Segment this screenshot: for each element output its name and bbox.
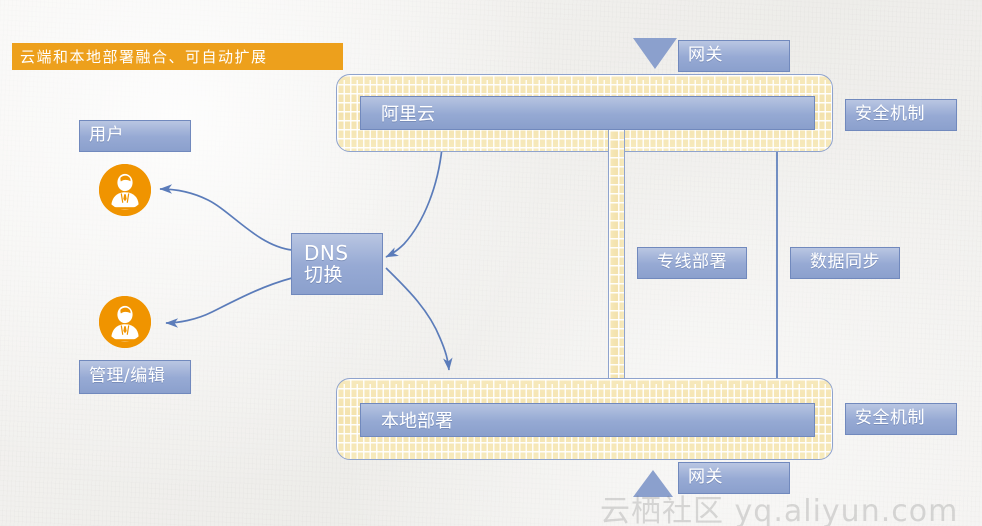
title-banner: 云端和本地部署融合、可自动扩展 [12, 43, 343, 70]
dedicated-line-label: 专线部署 [637, 247, 747, 279]
triangle-down-icon [633, 38, 677, 69]
user-label-text: 用户 [89, 126, 124, 146]
cloud-security-label: 安全机制 [845, 99, 957, 131]
admin-label: 管理/编辑 [79, 360, 191, 394]
onprem-zone-plate: 本地部署 [360, 403, 815, 437]
data-sync-text: 数据同步 [810, 253, 880, 273]
cloud-zone-label: 阿里云 [381, 100, 435, 126]
gateway-top-label: 网关 [678, 40, 790, 72]
dns-switch-box: DNS 切换 [291, 233, 383, 295]
gateway-top-text: 网关 [688, 46, 723, 66]
admin-avatar-icon [99, 296, 151, 348]
cloud-security-text: 安全机制 [855, 105, 925, 125]
data-sync-label: 数据同步 [790, 247, 900, 279]
onprem-zone-label: 本地部署 [381, 407, 453, 433]
diagram-canvas: 云端和本地部署融合、可自动扩展 网关 阿里云 安全机制 专线部署 数据同步 本地… [0, 0, 982, 526]
onprem-security-text: 安全机制 [855, 409, 925, 429]
arrow-dns-to-admin [166, 278, 292, 323]
admin-label-text: 管理/编辑 [89, 367, 165, 387]
watermark: 云栖社区 yq.aliyun.com [600, 486, 958, 526]
dedicated-line-text: 专线部署 [657, 253, 727, 273]
gateway-bottom-text: 网关 [688, 468, 723, 488]
arrow-dns-to-onprem [386, 268, 449, 370]
user-avatar-icon [99, 164, 151, 216]
arrow-cloud-to-dns [386, 148, 442, 257]
cloud-zone-plate: 阿里云 [360, 96, 815, 130]
dns-box-line1: DNS [304, 242, 349, 265]
onprem-security-label: 安全机制 [845, 403, 957, 435]
user-label: 用户 [79, 120, 191, 152]
dedicated-line-pipe [608, 130, 625, 410]
arrow-dns-to-user [160, 189, 292, 250]
dns-box-line2: 切换 [304, 265, 343, 287]
